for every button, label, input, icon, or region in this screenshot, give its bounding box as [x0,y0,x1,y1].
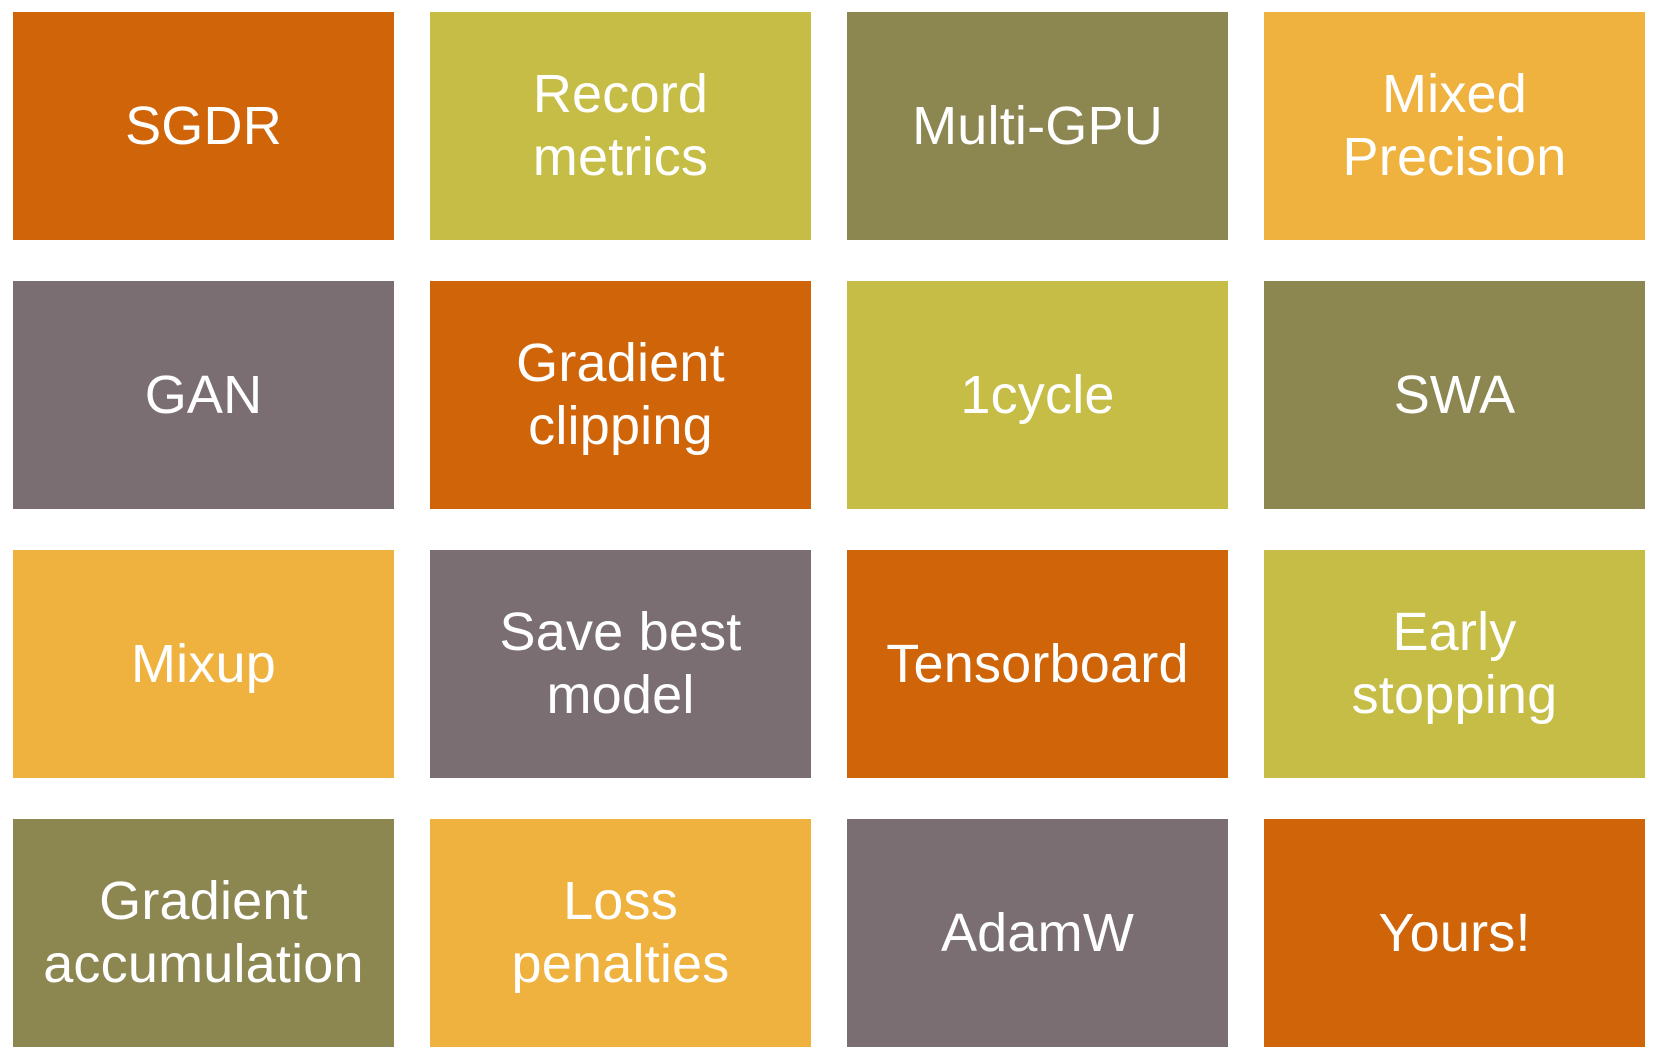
tile-loss-penalties[interactable]: Loss penalties [430,819,811,1047]
tile-grid: SGDRRecord metricsMulti-GPUMixed Precisi… [0,0,1669,1057]
tile-label-1cycle: 1cycle [960,364,1114,427]
tile-label-yours: Yours! [1378,902,1530,965]
tile-label-sgdr: SGDR [125,95,282,158]
tile-gradient-accumulation[interactable]: Gradient accumulation [13,819,394,1047]
tile-multi-gpu[interactable]: Multi-GPU [847,12,1228,240]
tile-label-record-metrics: Record metrics [533,63,708,188]
tile-early-stopping[interactable]: Early stopping [1264,550,1645,778]
tile-label-swa: SWA [1394,364,1516,427]
tile-record-metrics[interactable]: Record metrics [430,12,811,240]
tile-gan[interactable]: GAN [13,281,394,509]
tile-yours[interactable]: Yours! [1264,819,1645,1047]
tile-gradient-clipping[interactable]: Gradient clipping [430,281,811,509]
tile-tensorboard[interactable]: Tensorboard [847,550,1228,778]
tile-1cycle[interactable]: 1cycle [847,281,1228,509]
tile-label-loss-penalties: Loss penalties [512,870,730,995]
tile-label-tensorboard: Tensorboard [886,633,1188,696]
tile-label-gradient-accumulation: Gradient accumulation [43,870,364,995]
tile-mixed-precision[interactable]: Mixed Precision [1264,12,1645,240]
tile-label-gradient-clipping: Gradient clipping [516,332,725,457]
tile-label-adamw: AdamW [941,902,1134,965]
tile-swa[interactable]: SWA [1264,281,1645,509]
tile-label-save-best-model: Save best model [500,601,742,726]
tile-label-multi-gpu: Multi-GPU [912,95,1163,158]
tile-save-best-model[interactable]: Save best model [430,550,811,778]
tile-label-mixed-precision: Mixed Precision [1343,63,1567,188]
tile-label-early-stopping: Early stopping [1352,601,1558,726]
tile-label-mixup: Mixup [131,633,276,696]
tile-sgdr[interactable]: SGDR [13,12,394,240]
tile-mixup[interactable]: Mixup [13,550,394,778]
tile-label-gan: GAN [145,364,263,427]
tile-adamw[interactable]: AdamW [847,819,1228,1047]
